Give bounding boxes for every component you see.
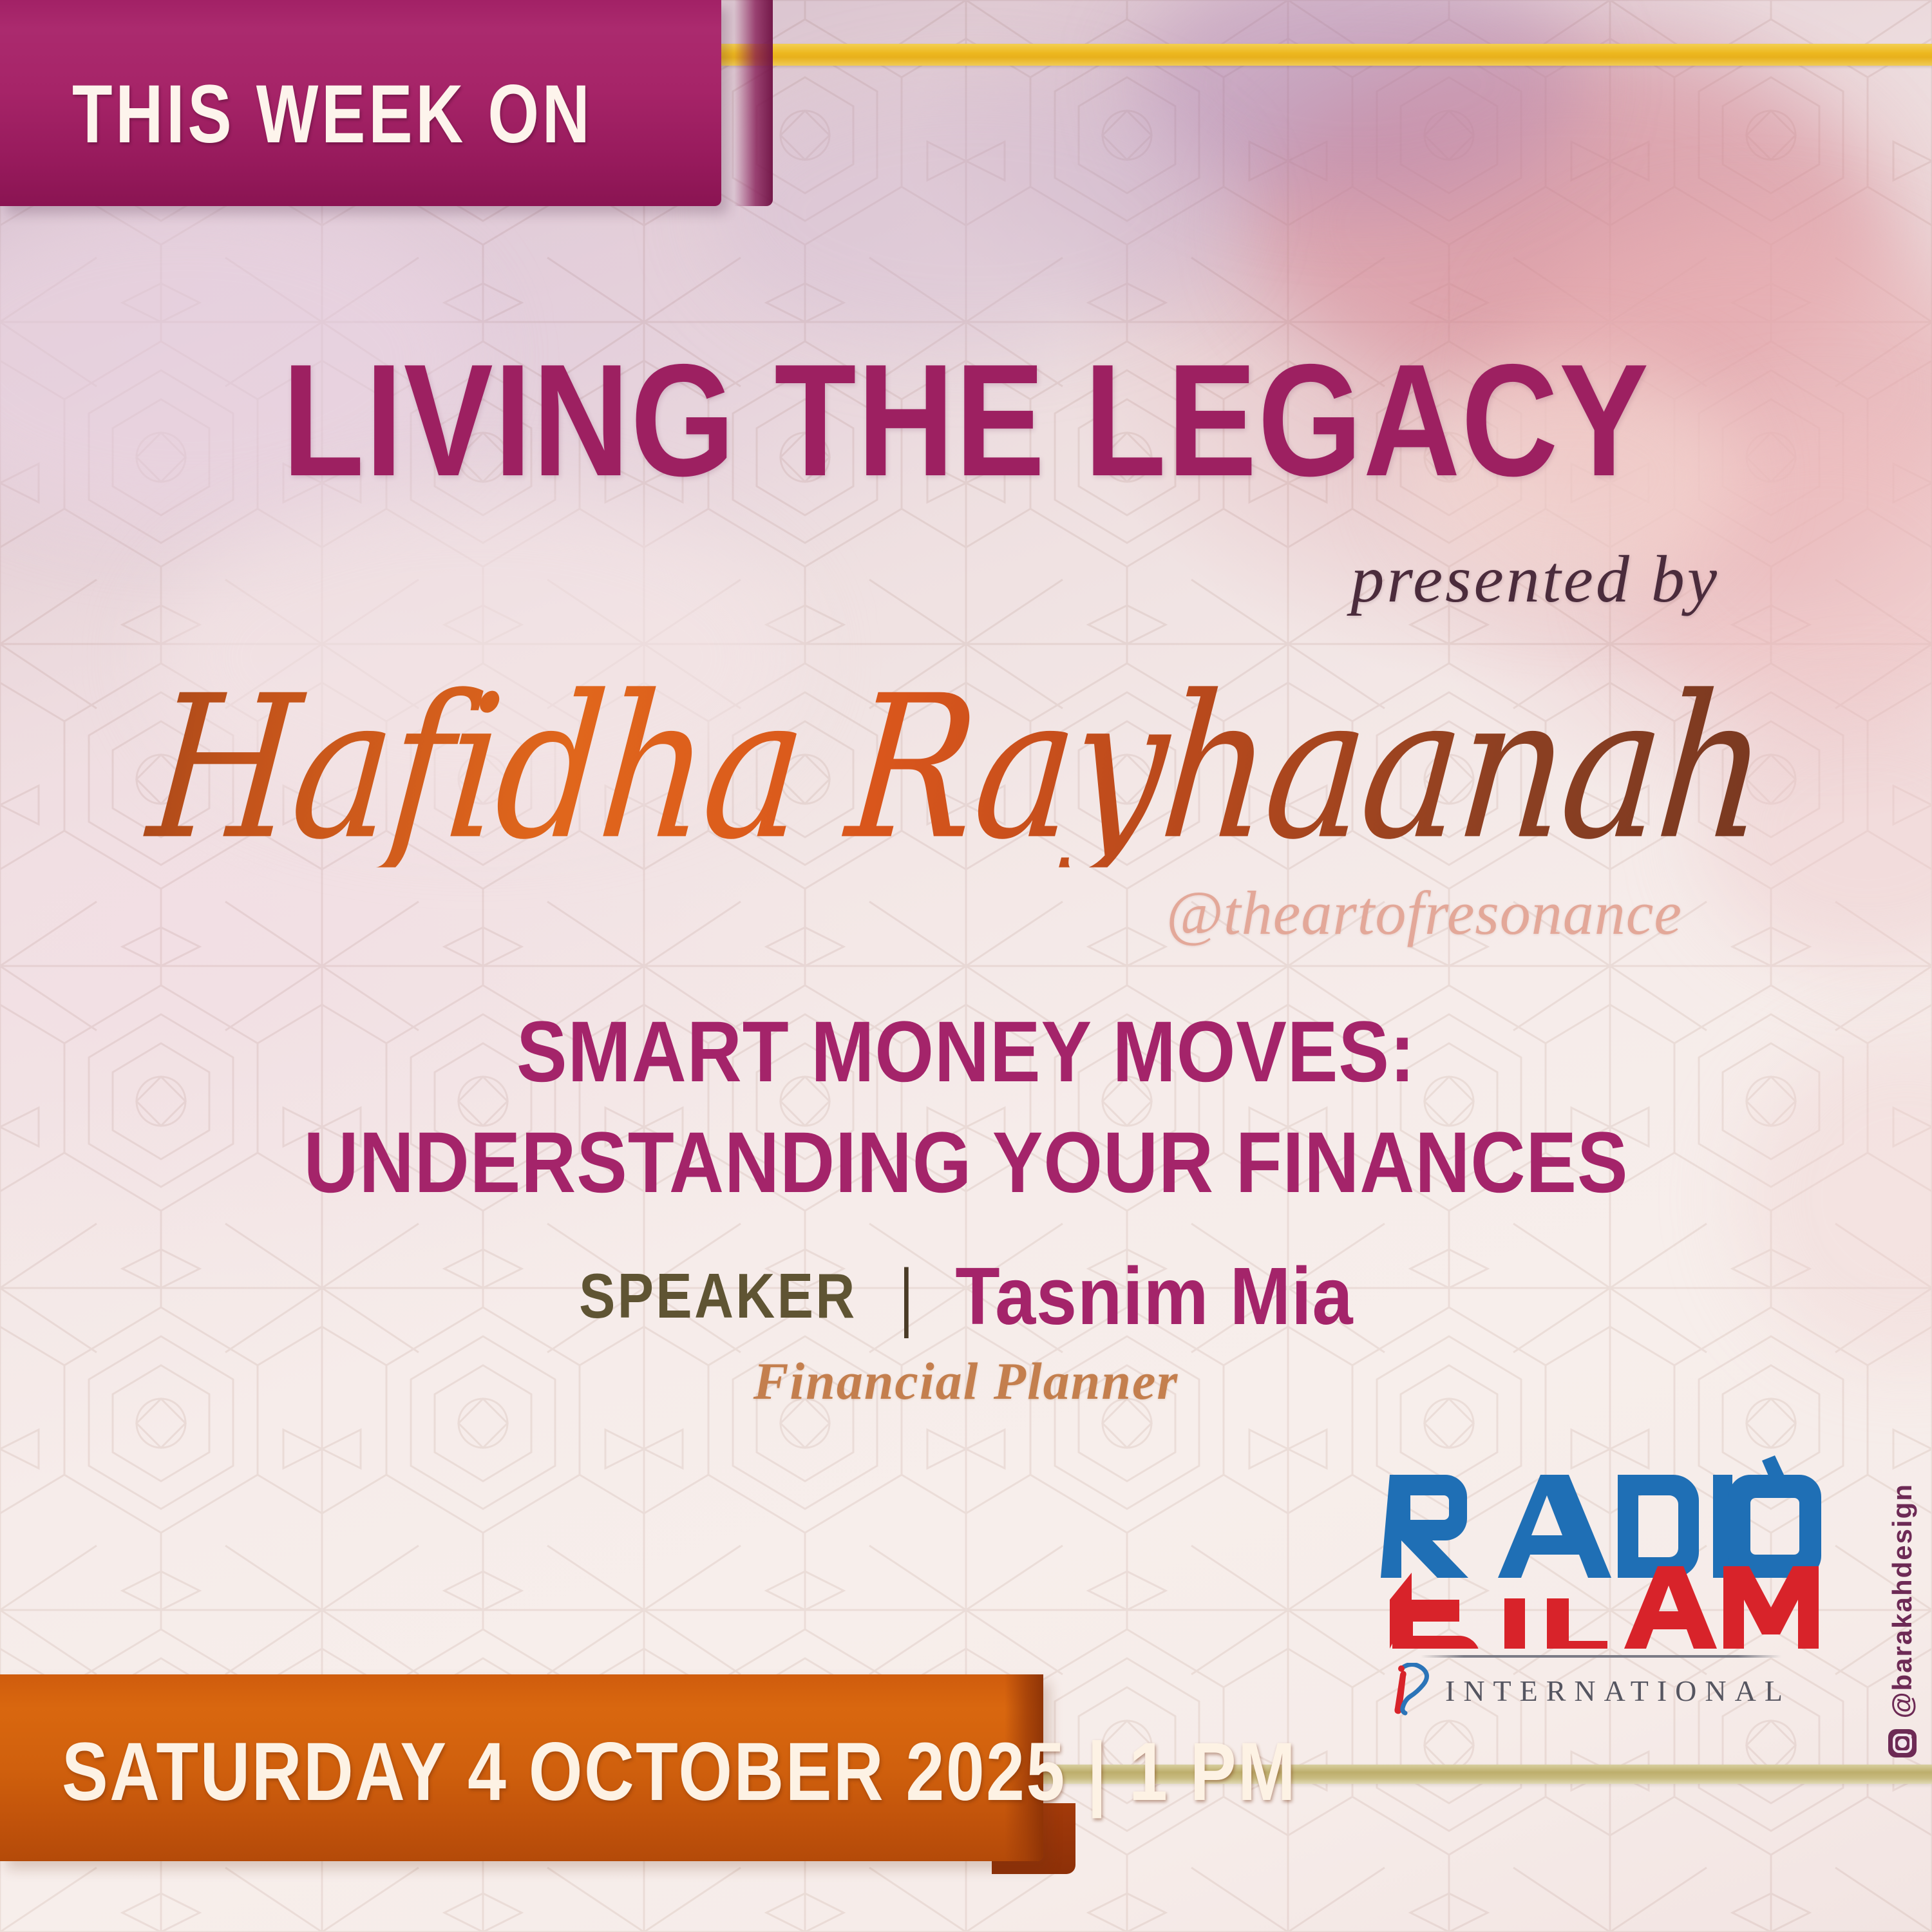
host-social-handle: @theartofresonance [1166,877,1682,949]
islam-word-icon [1390,1566,1819,1649]
international-label: INTERNATIONAL [1445,1674,1791,1708]
logo-divider [1421,1655,1781,1658]
speaker-name: Tasnim Mia [955,1249,1353,1343]
designer-handle[interactable]: @barakahdesign [1887,1483,1918,1718]
radio-islam-logo: INTERNATIONAL [1378,1455,1823,1718]
schedule-ribbon: SATURDAY 4 OCTOBER 2025 | 1 PM [0,1674,1133,1906]
international-row: INTERNATIONAL [1378,1663,1823,1718]
radio-word-icon [1381,1455,1821,1578]
instagram-icon[interactable] [1886,1727,1918,1759]
speaker-separator: | [900,1258,913,1334]
designer-credit[interactable]: @barakahdesign [1878,1457,1927,1759]
speaker-role: Financial Planner [0,1351,1932,1412]
topic-line-2: UNDERSTANDING YOUR FINANCES [116,1108,1816,1218]
show-title: LIVING THE LEGACY [155,340,1777,500]
radio-islam-wordmark-icon [1378,1455,1823,1649]
top-gold-accent-bar [699,44,1932,66]
this-week-on-label: THIS WEEK ON [72,67,593,162]
host-name: Hafidha Rayhaanah [0,670,1932,867]
ribbon-curl-shade [734,0,773,206]
speaker-row: SPEAKER | Tasnim Mia [0,1249,1932,1343]
promo-poster: THIS WEEK ON LIVING THE LEGACY presented… [0,0,1932,1932]
ir-monogram-icon [1392,1663,1435,1718]
presented-by-label: presented by [1350,541,1719,618]
episode-topic: SMART MONEY MOVES: UNDERSTANDING YOUR FI… [116,997,1816,1218]
schedule-label: SATURDAY 4 OCTOBER 2025 | 1 PM [62,1725,1297,1819]
topic-line-1: SMART MONEY MOVES: [516,1004,1416,1100]
speaker-label: SPEAKER [579,1260,857,1332]
this-week-on-ribbon: THIS WEEK ON [0,0,773,219]
